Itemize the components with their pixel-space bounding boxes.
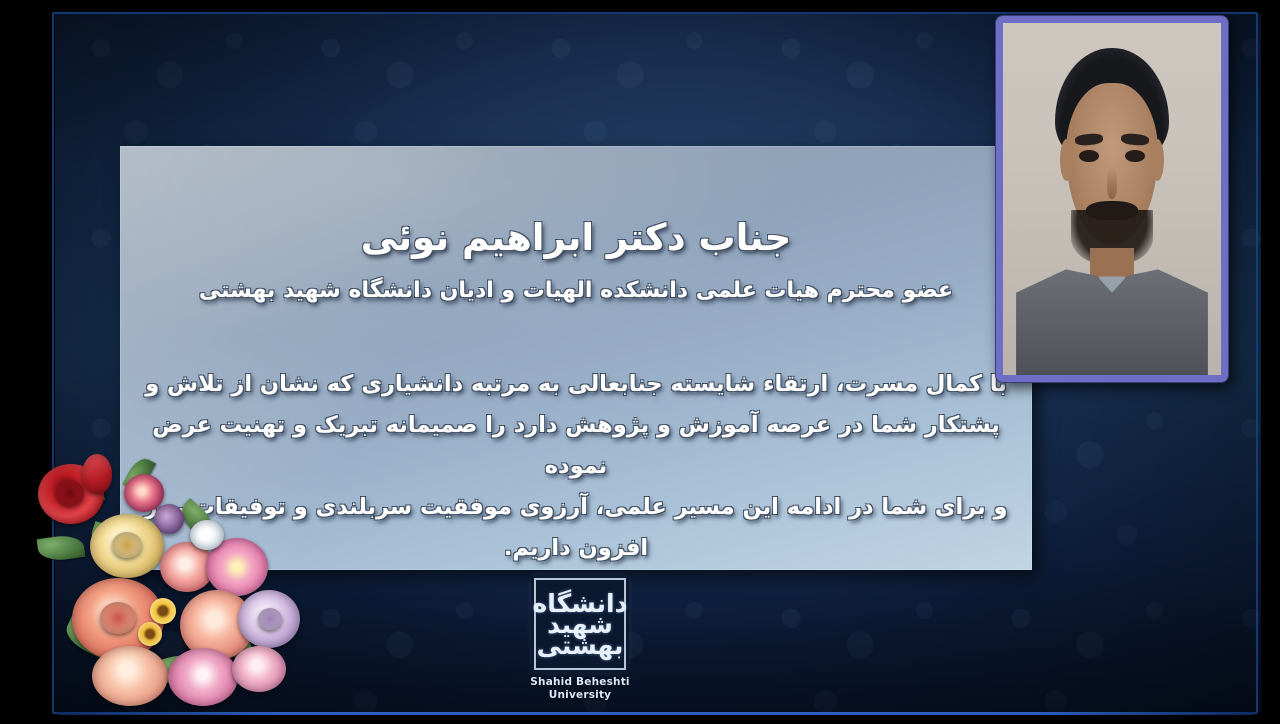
magenta-flower-icon bbox=[124, 474, 164, 512]
white-blossom-icon bbox=[190, 520, 224, 550]
portrait-photo bbox=[1003, 23, 1221, 375]
lilac-rose-inner bbox=[258, 608, 282, 630]
university-name-line-2: University bbox=[512, 689, 648, 702]
pink-blossom-icon bbox=[92, 646, 168, 706]
cream-rose-inner bbox=[112, 532, 142, 558]
portrait-photo-frame bbox=[996, 16, 1228, 382]
university-name-line-1: Shahid Beheshti bbox=[512, 676, 648, 689]
red-rose-bud-icon bbox=[82, 454, 112, 494]
leaf-icon bbox=[37, 533, 86, 563]
portrait-nose bbox=[1107, 167, 1118, 199]
honoree-affiliation: عضو محترم هیات علمی دانشکده الهیات و ادی… bbox=[120, 274, 1032, 308]
logo-mark-frame: دانشگاه شهید بهشتی bbox=[534, 578, 626, 670]
coral-peony-inner bbox=[100, 602, 136, 634]
floral-bouquet-decoration bbox=[28, 450, 308, 712]
university-name: Shahid Beheshti University bbox=[512, 676, 648, 701]
congratulation-poster: جناب دکتر ابراهیم نوئی عضو محترم هیات عل… bbox=[0, 0, 1280, 724]
university-logo: دانشگاه شهید بهشتی Shahid Beheshti Unive… bbox=[512, 578, 648, 706]
logo-calligraphy: دانشگاه شهید بهشتی bbox=[541, 585, 619, 663]
pink-cosmos-icon bbox=[168, 648, 238, 706]
portrait-ear-left bbox=[1060, 139, 1073, 181]
pink-blossom-icon bbox=[232, 646, 286, 692]
red-rose-inner bbox=[56, 480, 84, 506]
yellow-daisy-icon bbox=[138, 622, 162, 646]
portrait-ear-right bbox=[1151, 139, 1164, 181]
bottom-accent-line bbox=[58, 712, 1254, 715]
message-line-1: با کمال مسرت، ارتقاء شایسته جنابعالی به … bbox=[142, 364, 1010, 405]
portrait-eye-right bbox=[1125, 150, 1145, 162]
page-title: جناب دکتر ابراهیم نوئی bbox=[120, 212, 1032, 264]
logo-calligraphy-line-3: بهشتی bbox=[537, 635, 624, 656]
portrait-eye-left bbox=[1079, 150, 1099, 162]
yellow-daisy-icon bbox=[150, 598, 176, 624]
